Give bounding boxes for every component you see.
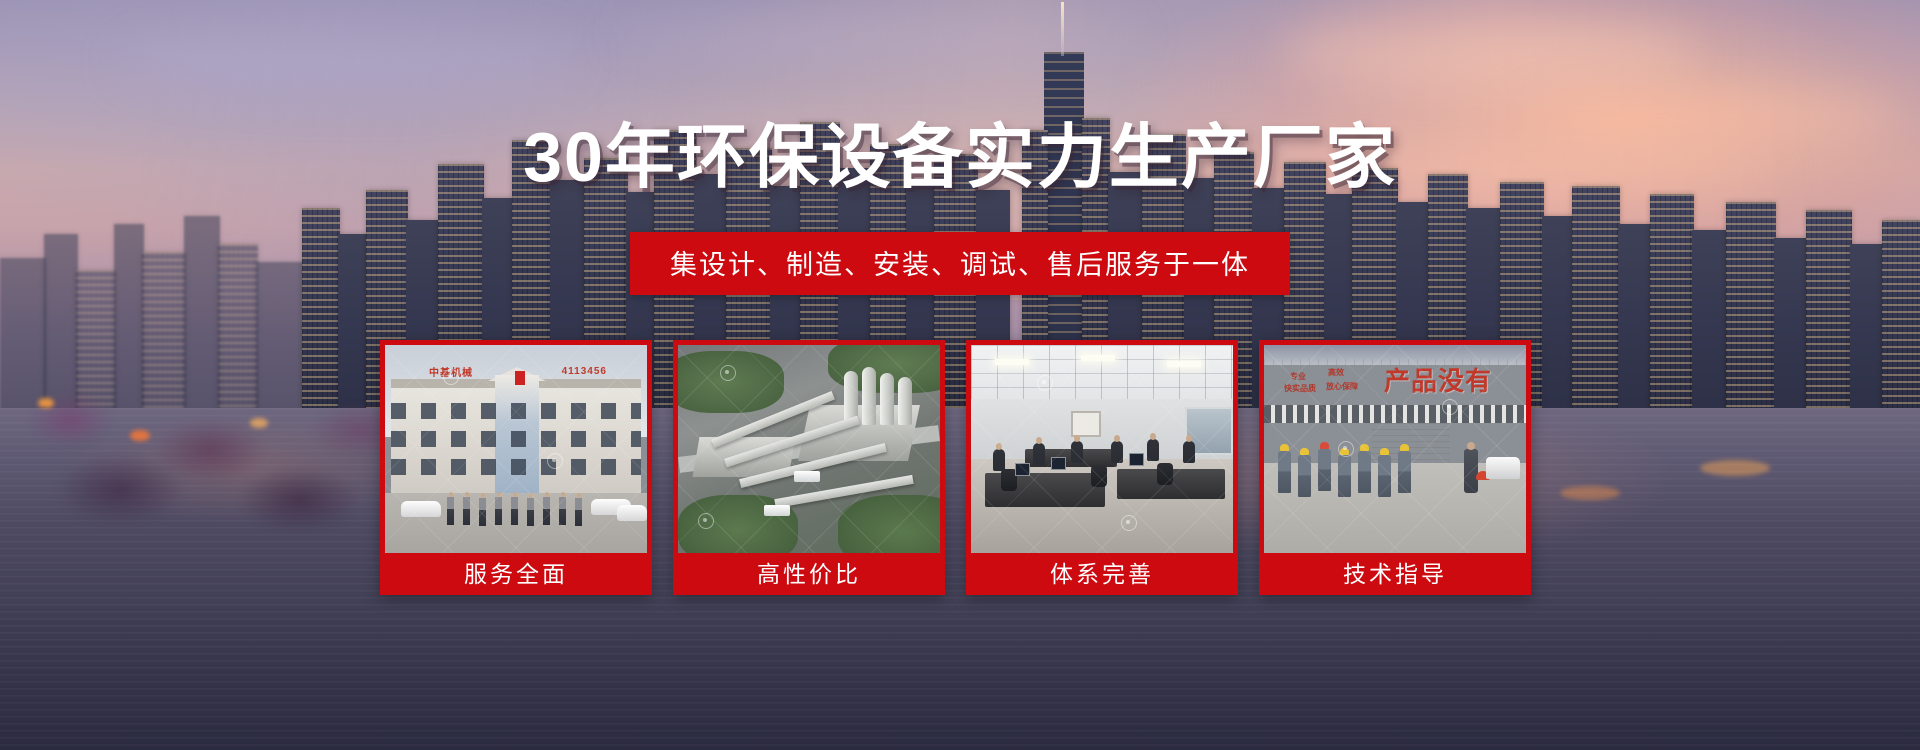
card-photo-factory-workers: 产品没有 专业 高效 快实品质 放心保障 xyxy=(1264,345,1526,553)
feature-card-guidance[interactable]: 产品没有 专业 高效 快实品质 放心保障 xyxy=(1259,340,1531,595)
monitor-icon xyxy=(1051,457,1066,470)
factory-wall-small-1: 专业 xyxy=(1290,371,1306,382)
feature-card-label: 体系完善 xyxy=(971,553,1233,595)
bank-light-6 xyxy=(1560,486,1620,500)
flag-icon xyxy=(515,371,525,385)
hero-banner: 30年环保设备实力生产厂家 集设计、制造、安装、调试、售后服务于一体 中基机械 … xyxy=(0,0,1920,750)
subtitle-container: 集设计、制造、安装、调试、售后服务于一体 xyxy=(0,232,1920,295)
bank-light-2 xyxy=(130,430,150,441)
feature-card-value[interactable]: 高性价比 xyxy=(673,340,945,595)
subtitle-badge: 集设计、制造、安装、调试、售后服务于一体 xyxy=(630,232,1290,295)
feature-card-list: 中基机械 4113456 xyxy=(380,340,1540,595)
feature-card-label: 技术指导 xyxy=(1264,553,1526,595)
bank-light-3 xyxy=(250,418,268,428)
bank-light-5 xyxy=(1700,460,1770,476)
building-sign-name: 中基机械 xyxy=(429,364,473,379)
feature-card-system[interactable]: 体系完善 xyxy=(966,340,1238,595)
feature-card-label: 服务全面 xyxy=(385,553,647,595)
card-photo-office-interior xyxy=(971,345,1233,553)
tower-spire xyxy=(1061,2,1064,56)
factory-wall-slogan: 产品没有 xyxy=(1384,361,1524,395)
monitor-icon xyxy=(1129,453,1144,466)
factory-wall-small-2: 高效 xyxy=(1328,367,1344,378)
feature-card-service[interactable]: 中基机械 4113456 xyxy=(380,340,652,595)
page-title: 30年环保设备实力生产厂家 xyxy=(0,122,1920,192)
wall-frame xyxy=(1071,411,1101,437)
bank-light-1 xyxy=(38,398,54,408)
card-photo-industrial-plant xyxy=(678,345,940,553)
building-sign-phone: 4113456 xyxy=(562,366,607,377)
factory-wall-small-4: 放心保障 xyxy=(1326,381,1358,392)
feature-card-label: 高性价比 xyxy=(678,553,940,595)
card-photo-office-building: 中基机械 4113456 xyxy=(385,345,647,553)
factory-wall-small-3: 快实品质 xyxy=(1284,383,1316,394)
monitor-icon xyxy=(1015,463,1030,476)
